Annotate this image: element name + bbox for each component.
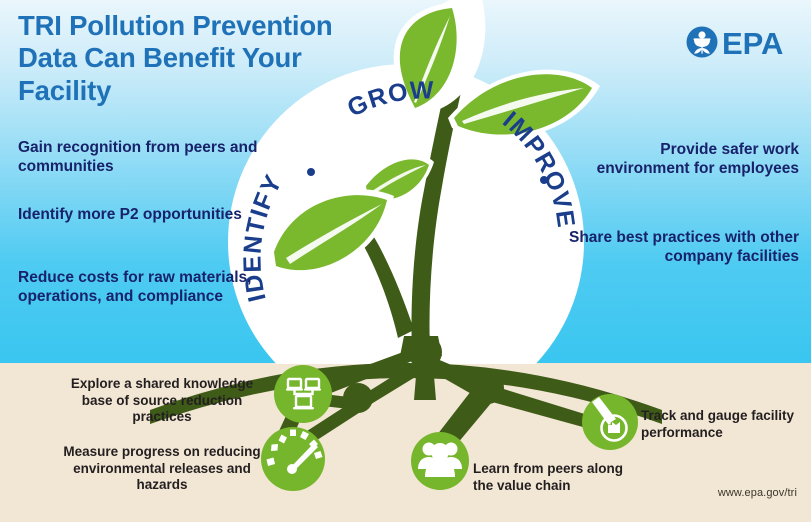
epa-seal-icon: EPA [684, 22, 796, 62]
root-caption-gauge: Measure progress on reducing environment… [62, 444, 262, 494]
benefit-right-1: Provide safer work environment for emplo… [569, 140, 799, 179]
white-dome [228, 64, 584, 364]
benefit-right-2: Share best practices with other company … [569, 228, 799, 267]
epa-logo-text: EPA [722, 26, 783, 61]
footer-url[interactable]: www.epa.gov/tri [718, 487, 797, 499]
infographic-poster: IDENTIFY GROW IMPROVE TRI Pollution Prev… [0, 0, 811, 522]
root-caption-network: Explore a shared knowledge base of sourc… [62, 376, 262, 426]
root-caption-people: Learn from peers along the value chain [473, 461, 643, 494]
page-title-line-2: Data Can Benefit Your [18, 42, 408, 74]
page-title: TRI Pollution Prevention Data Can Benefi… [18, 10, 408, 107]
page-title-line-1: TRI Pollution Prevention [18, 10, 408, 42]
benefit-left-1: Gain recognition from peers and communit… [18, 138, 268, 177]
epa-logo: EPA [684, 22, 796, 62]
root-caption-magnifier: Track and gauge facility performance [641, 408, 811, 441]
benefit-left-3: Reduce costs for raw materials, operatio… [18, 268, 268, 307]
page-title-line-3: Facility [18, 75, 408, 107]
benefit-left-2: Identify more P2 opportunities [18, 205, 268, 224]
